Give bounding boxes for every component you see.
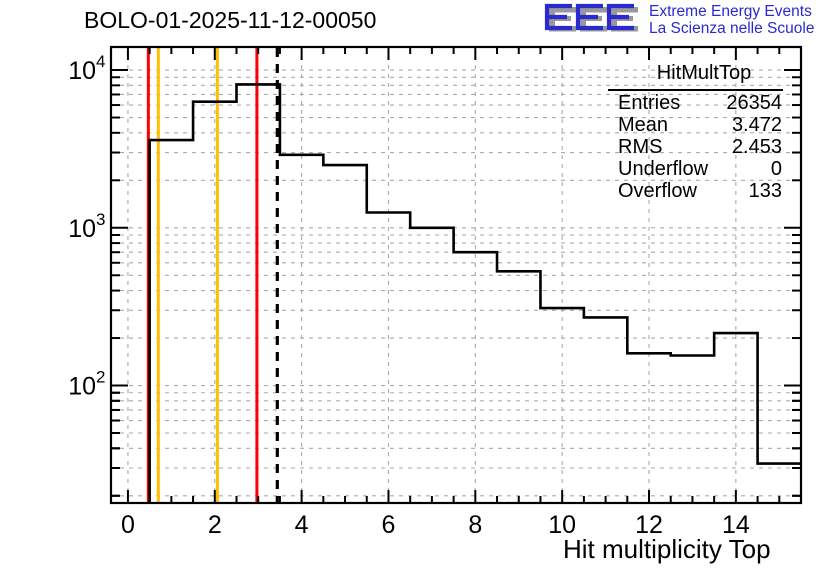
stats-title: HitMultTop xyxy=(606,62,802,85)
x-tick-label: 0 xyxy=(121,511,135,539)
stats-label: Overflow xyxy=(618,180,697,203)
x-tick-label: 4 xyxy=(295,511,309,539)
y-tick-label: 103 xyxy=(68,210,105,243)
svg-text:10: 10 xyxy=(68,57,96,85)
stats-label: Underflow xyxy=(618,158,708,181)
stats-divider xyxy=(608,89,783,91)
stats-value: 2.453 xyxy=(732,136,782,159)
stats-box: HitMultTop Entries 26354 Mean 3.472 RMS … xyxy=(606,62,802,204)
stats-row-underflow: Underflow 0 xyxy=(608,158,800,181)
y-tick-label: 102 xyxy=(68,368,105,401)
stats-row-mean: Mean 3.472 xyxy=(608,114,800,137)
stats-value: 0 xyxy=(771,158,782,181)
svg-text:10: 10 xyxy=(68,373,96,401)
stats-value: 133 xyxy=(749,180,782,203)
svg-text:3: 3 xyxy=(96,210,105,229)
stats-row-entries: Entries 26354 xyxy=(608,92,800,115)
stats-row-rms: RMS 2.453 xyxy=(608,136,800,159)
root-canvas: BOLO-01-2025-11-12-00050 xyxy=(0,0,836,572)
y-axis-ticklabels: 102103104 xyxy=(68,52,105,400)
stats-row-overflow: Overflow 133 xyxy=(608,180,800,203)
stats-label: Entries xyxy=(618,92,680,115)
x-tick-label: 6 xyxy=(382,511,396,539)
y-tick-label: 104 xyxy=(68,52,105,85)
stats-value: 26354 xyxy=(726,92,782,115)
svg-text:2: 2 xyxy=(96,368,105,387)
x-tick-label: 8 xyxy=(468,511,482,539)
svg-text:4: 4 xyxy=(96,52,105,71)
x-tick-label: 2 xyxy=(208,511,222,539)
x-axis-title: Hit multiplicity Top xyxy=(563,534,771,565)
stats-label: RMS xyxy=(618,136,662,159)
svg-text:10: 10 xyxy=(68,215,96,243)
stats-label: Mean xyxy=(618,114,668,137)
stats-value: 3.472 xyxy=(732,114,782,137)
